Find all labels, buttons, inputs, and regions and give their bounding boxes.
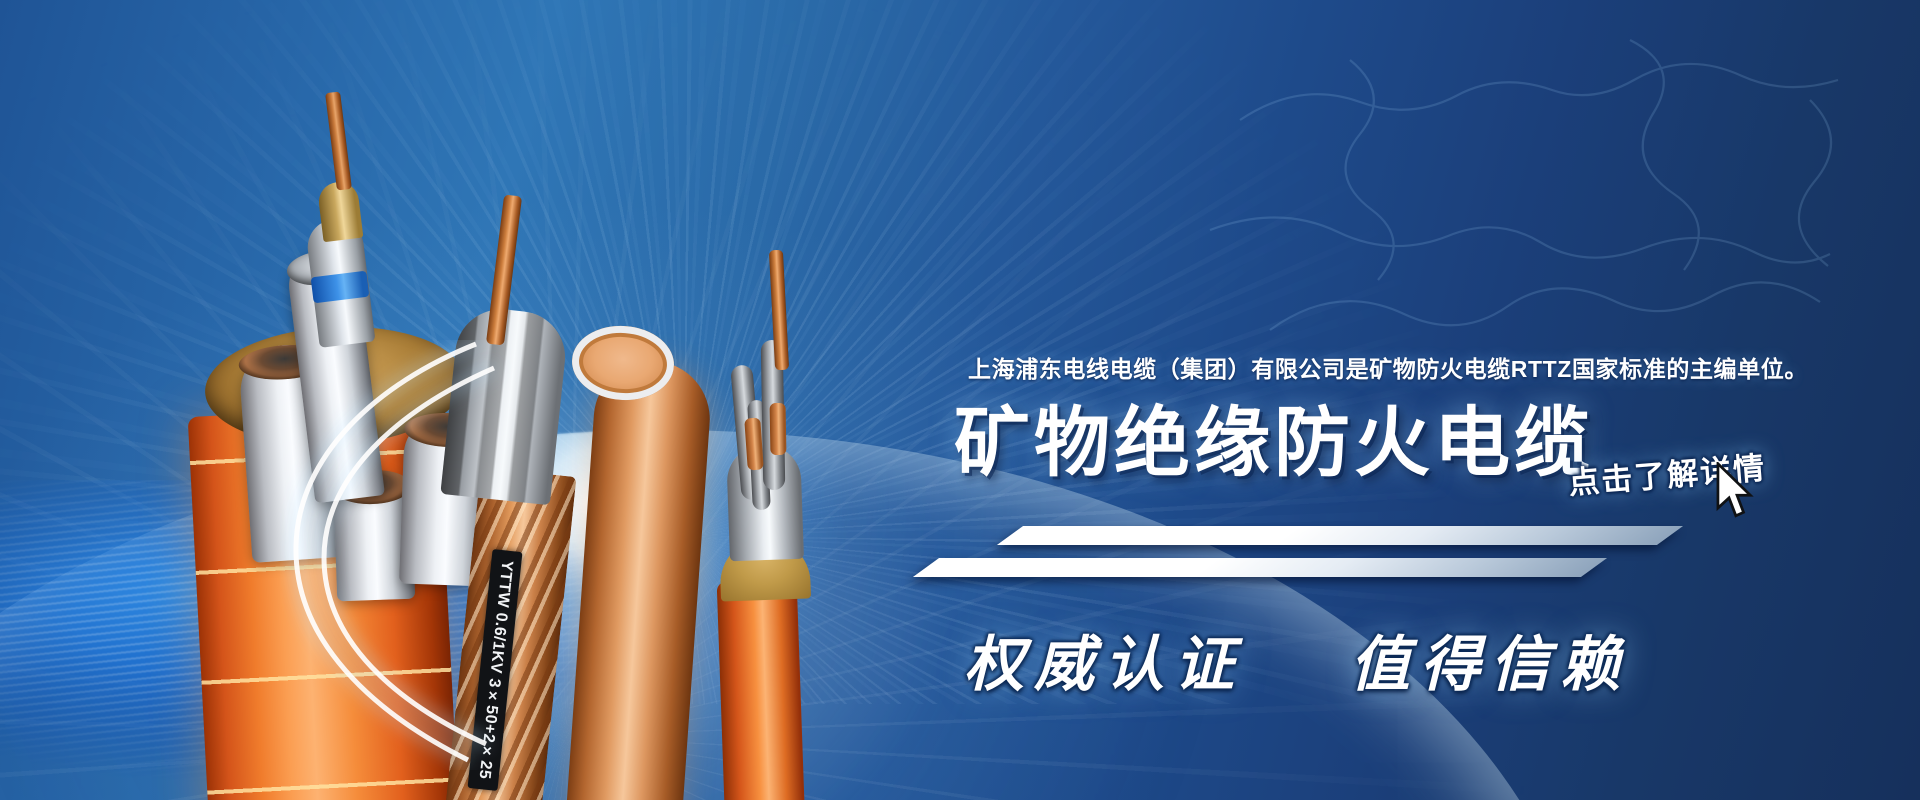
solid-copper-sheath-cable bbox=[565, 357, 714, 800]
hero-banner: YTTW 0.6/1KV 3×50+2×25 上海浦东电线电缆（集团）有限公司是… bbox=[0, 0, 1920, 800]
banner-copy: 上海浦东电线电缆（集团）有限公司是矿物防火电缆RTTZ国家标准的主编单位。 矿物… bbox=[968, 350, 1848, 703]
decorative-double-bar-divider bbox=[898, 522, 1678, 592]
cable-product-images: YTTW 0.6/1KV 3×50+2×25 bbox=[150, 110, 930, 800]
slogan-left-text: 权威认证 bbox=[964, 632, 1244, 698]
headline-row: 矿物绝缘防火电缆 点击了解详情 bbox=[968, 406, 1848, 502]
slogan-right-text: 值得信赖 bbox=[1350, 632, 1630, 698]
learn-more-button[interactable]: 点击了解详情 bbox=[1567, 442, 1768, 502]
page-title: 矿物绝缘防火电缆 bbox=[954, 406, 1594, 482]
thin-multicore-cable bbox=[717, 579, 805, 800]
banner-tagline: 上海浦东电线电缆（集团）有限公司是矿物防火电缆RTTZ国家标准的主编单位。 bbox=[968, 350, 1848, 384]
copper-wire-tip bbox=[325, 91, 352, 190]
banner-slogan: 权威认证 值得信赖 bbox=[964, 616, 1848, 703]
divider-bar-top bbox=[997, 526, 1683, 545]
thin-cable-copper-bit-2 bbox=[770, 403, 787, 455]
divider-bar-bottom bbox=[913, 558, 1607, 577]
